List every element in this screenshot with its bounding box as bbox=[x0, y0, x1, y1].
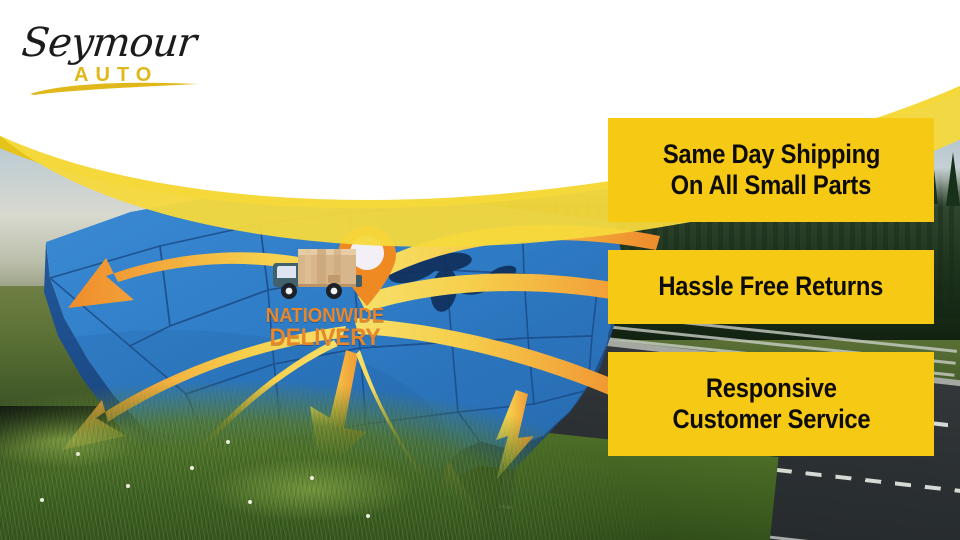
feature-banner-same-day-shipping[interactable]: Same Day Shipping On All Small Parts bbox=[608, 118, 934, 222]
foreground-grass bbox=[0, 380, 700, 540]
caption-line-1: NATIONWIDE bbox=[260, 306, 390, 326]
banner-line: Hassle Free Returns bbox=[659, 271, 884, 302]
logo-swoosh-icon bbox=[28, 80, 200, 96]
wildflower bbox=[40, 498, 44, 502]
wildflower bbox=[126, 484, 130, 488]
wildflower bbox=[190, 466, 194, 470]
banner-line: Responsive bbox=[706, 373, 837, 404]
promo-banner-canvas: NATIONWIDE DELIVERY Seymour AUTO Same Da… bbox=[0, 0, 960, 540]
feature-banner-hassle-free-returns[interactable]: Hassle Free Returns bbox=[608, 250, 934, 324]
caption-line-2: DELIVERY bbox=[260, 326, 390, 350]
wildflower bbox=[310, 476, 314, 480]
delivery-truck-icon bbox=[272, 245, 364, 303]
seymour-auto-logo[interactable]: Seymour AUTO bbox=[22, 14, 212, 102]
nationwide-delivery-caption: NATIONWIDE DELIVERY bbox=[255, 306, 395, 351]
banner-line: On All Small Parts bbox=[671, 170, 871, 201]
grass-texture bbox=[0, 380, 700, 540]
feature-banner-responsive-customer-service[interactable]: Responsive Customer Service bbox=[608, 352, 934, 456]
banner-line: Customer Service bbox=[672, 404, 870, 435]
wildflower bbox=[248, 500, 252, 504]
banner-line: Same Day Shipping bbox=[662, 139, 879, 170]
logo-wordmark: Seymour bbox=[20, 20, 198, 66]
wildflower bbox=[366, 514, 370, 518]
wildflower bbox=[76, 452, 80, 456]
wildflower bbox=[226, 440, 230, 444]
